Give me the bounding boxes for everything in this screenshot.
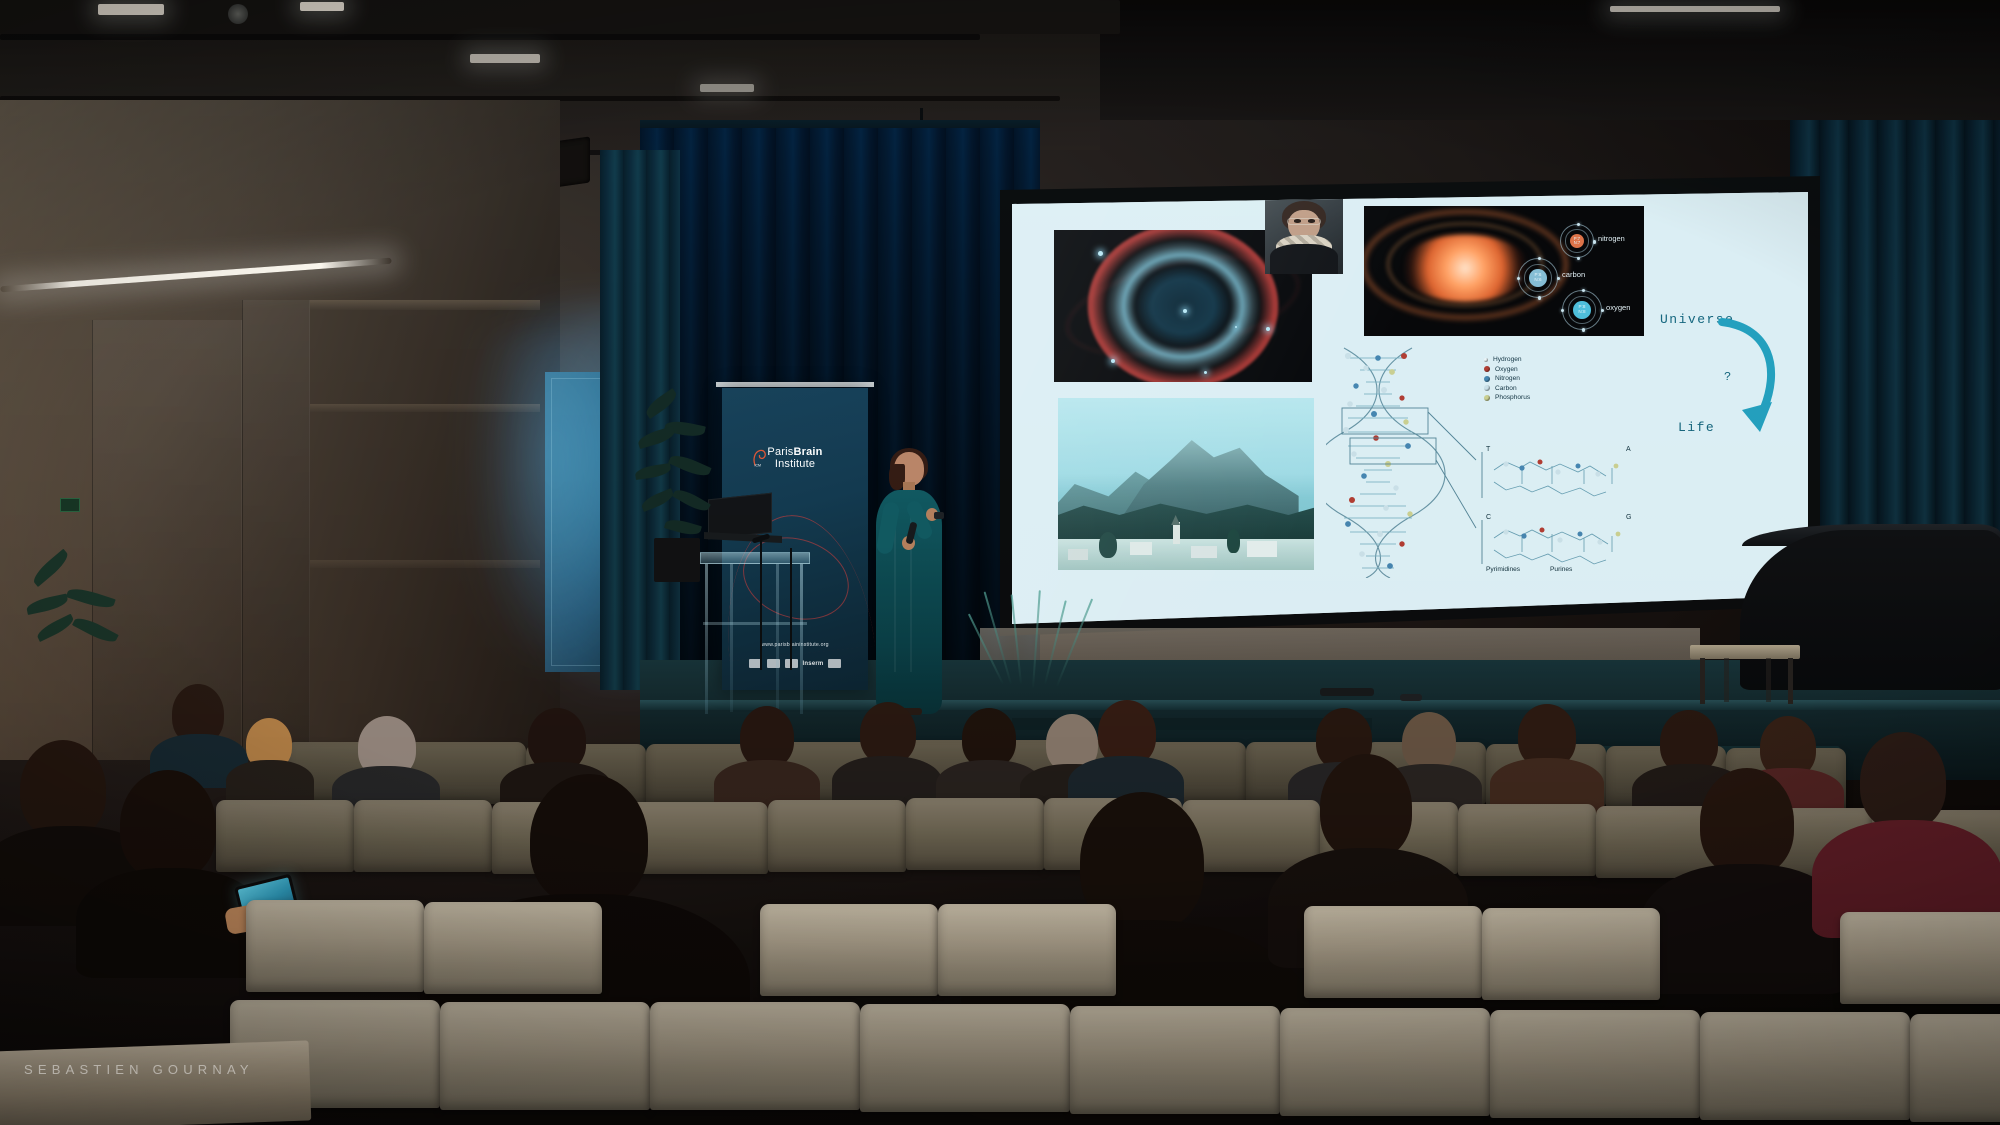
bench-leg (1766, 658, 1771, 702)
village-house (1130, 542, 1152, 555)
legend-dot-carbon (1484, 385, 1490, 391)
potted-plant (630, 396, 740, 596)
banner-top-rail (716, 382, 874, 387)
church-tower (1173, 522, 1180, 544)
atom-diagram-carbon: P:6 N:6 (1518, 258, 1558, 298)
bench-leg (1724, 658, 1729, 702)
partner-logo (828, 659, 841, 668)
legend-label: Nitrogen (1495, 375, 1520, 382)
piano-bench (1690, 645, 1800, 659)
atom-neutrons: N:7 (1574, 241, 1580, 245)
atom-label-carbon: carbon (1562, 270, 1585, 279)
stage-edge (640, 700, 2000, 710)
lectern-leg (800, 564, 803, 714)
village-house (1247, 541, 1277, 557)
ceiling-spotlight-icon (228, 4, 248, 24)
banner-brand-lockup: ParisBrain Institute (722, 446, 868, 470)
tree (1227, 529, 1240, 553)
audience-head-foreground (1860, 732, 1946, 830)
legend-item: Oxygen (1484, 366, 1530, 373)
legend-label: Hydrogen (1493, 356, 1522, 363)
ceiling-slab (0, 0, 1120, 34)
star-icon (1183, 309, 1187, 313)
ceiling-light (700, 84, 754, 92)
ornamental-grass (990, 588, 1100, 698)
atom-label-nitrogen: nitrogen (1598, 234, 1625, 243)
legend-dot-oxygen (1484, 366, 1490, 372)
atom-label-oxygen: oxygen (1606, 303, 1631, 312)
ceiling-light (300, 2, 344, 11)
dna-label-pyrimidines: Pyrimidines (1486, 566, 1520, 573)
dna-legend: Hydrogen Oxygen Nitrogen Carbon (1484, 356, 1530, 404)
legend-label: Oxygen (1495, 366, 1518, 373)
floor-object (1400, 694, 1422, 701)
grand-piano (1740, 530, 2000, 690)
dna-base-T: T (1486, 446, 1490, 453)
audience-head-foreground (120, 770, 216, 880)
audience-head (1402, 712, 1456, 772)
legend-dot-nitrogen (1484, 376, 1490, 382)
atom-neutrons: N:8 (1578, 310, 1585, 315)
legend-item: Phosphorus (1484, 394, 1530, 401)
legend-dot-hydrogen (1484, 358, 1488, 362)
photograph-lecture-hall: P:6 N:6 carbon P:7 N:7 (0, 0, 2000, 1125)
brand-paris: Paris (767, 446, 793, 458)
floor-cable (1320, 688, 1374, 696)
atom-neutrons: N:6 (1534, 278, 1541, 283)
dna-base-C: C (1486, 514, 1491, 521)
atom-diagram-nitrogen: P:7 N:7 (1560, 224, 1594, 258)
audience-head-foreground (20, 740, 106, 838)
star-icon (1111, 359, 1115, 363)
legend-dot-phosphorus (1484, 395, 1490, 401)
exit-sign (60, 498, 80, 512)
lectern-leg (776, 564, 779, 712)
dna-base-G: G (1626, 514, 1631, 521)
audience-head-foreground (1700, 768, 1794, 876)
desk-ledge (0, 1040, 311, 1125)
star-icon (1235, 326, 1237, 328)
audience-head-foreground (1320, 754, 1412, 860)
village-house (1068, 549, 1088, 560)
annotation-life: Life (1678, 420, 1715, 435)
potted-plant (20, 568, 160, 728)
brand-brain: Brain (793, 446, 822, 458)
bench-leg (1700, 658, 1705, 704)
slide-tile-nucleosynthesis: P:6 N:6 carbon P:7 N:7 (1364, 206, 1644, 336)
bench-leg (1788, 658, 1793, 704)
audience-head (740, 706, 794, 768)
presentation-slide: P:6 N:6 carbon P:7 N:7 (1012, 192, 1808, 624)
legend-label: Carbon (1495, 385, 1517, 392)
star-icon (1098, 251, 1103, 256)
dna-base-A: A (1626, 446, 1631, 453)
presentation-clicker (934, 512, 944, 519)
dna-label-purines: Purines (1550, 566, 1572, 573)
atom-diagram-oxygen: P:8 N:8 (1562, 290, 1602, 330)
star-icon (1266, 327, 1270, 331)
curved-arrow-icon (1712, 314, 1792, 444)
audience-head (860, 702, 916, 764)
tree (1099, 532, 1117, 558)
legend-item: Nitrogen (1484, 375, 1530, 382)
legend-label: Phosphorus (1495, 394, 1530, 401)
slide-tile-landscape (1058, 398, 1314, 570)
slide-tile-dna: Hydrogen Oxygen Nitrogen Carbon (1326, 342, 1642, 578)
projection-screen: P:6 N:6 carbon P:7 N:7 (1012, 192, 1808, 624)
ceiling-light (98, 4, 164, 15)
ceiling-light (1610, 6, 1780, 12)
village-house (1191, 546, 1217, 558)
ceiling-light (470, 54, 540, 63)
legend-item: Carbon (1484, 385, 1530, 392)
legend-item: Hydrogen (1484, 356, 1530, 363)
microphone-stand (760, 540, 762, 670)
wall-panel (242, 300, 310, 760)
microphone-stand (790, 548, 792, 670)
speaker-presenter (868, 452, 948, 714)
slide-tile-portrait (1265, 196, 1343, 274)
audience-head-foreground (530, 774, 648, 906)
ceiling-slab (0, 34, 980, 40)
photographer-watermark: SEBASTIEN GOURNAY (24, 1062, 254, 1077)
audience-head (962, 708, 1016, 768)
brand-institute: Institute (722, 458, 868, 470)
